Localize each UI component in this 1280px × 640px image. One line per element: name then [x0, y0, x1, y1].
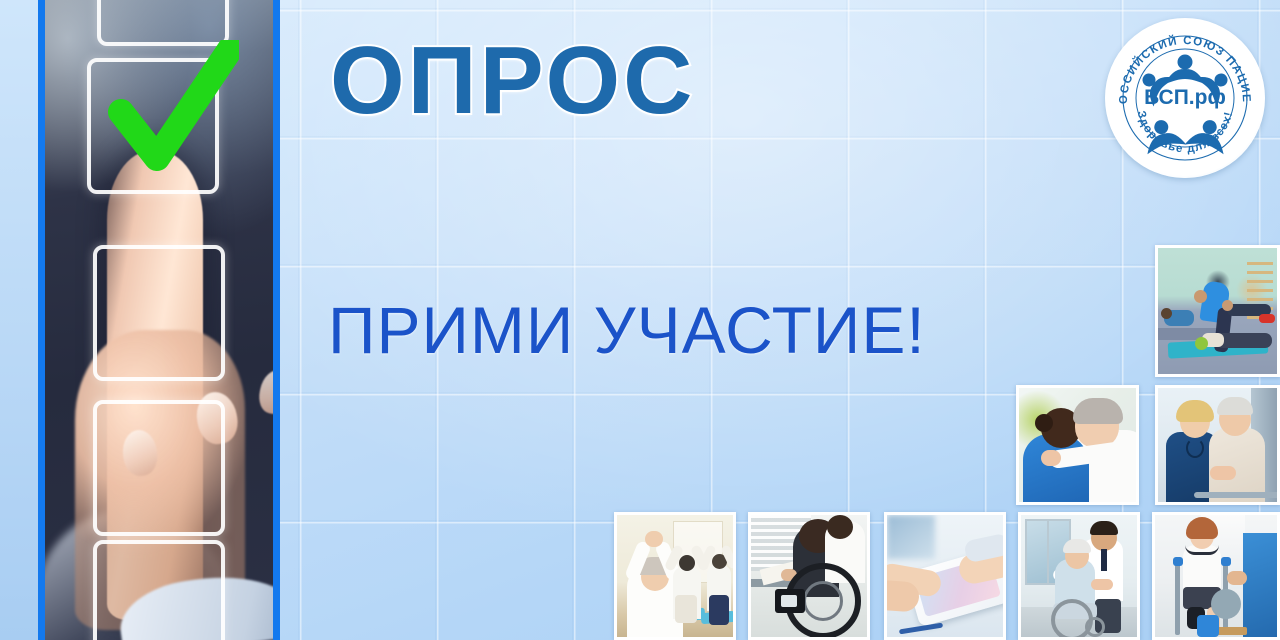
photo-hands-using-tablet [884, 512, 1006, 640]
panel-left-bleed [0, 0, 38, 640]
photo-seniors-yoga-class [614, 512, 736, 640]
checkbox-outline-checked[interactable] [87, 58, 219, 194]
panel-blue-frame [38, 0, 280, 640]
checkbox-outline[interactable] [93, 400, 225, 536]
photo-woman-on-crutches-rehab [1152, 512, 1280, 640]
vsp-logo[interactable]: ВСЕРОССИЙСКИЙ СОЮЗ ПАЦИЕНТОВ Здоровье дл… [1105, 18, 1265, 178]
checkbox-outline[interactable] [97, 0, 229, 46]
photo-children-physiotherapy [1155, 245, 1280, 377]
photo-doctor-with-wheelchair-patient [1018, 512, 1140, 640]
panel-photo-background [45, 0, 273, 640]
call-to-action-text: ПРИМИ УЧАСТИЕ! [328, 297, 926, 363]
checkbox-outline[interactable] [93, 245, 225, 381]
photo-nurse-hugging-senior-woman [1016, 385, 1139, 505]
photo-wheelchair-student-classroom [748, 512, 870, 640]
logo-center-text: ВСП.рф [1144, 86, 1226, 109]
page-title: ОПРОС [330, 33, 695, 129]
survey-banner: ОПРОС ПРИМИ УЧАСТИЕ! ВСЕРОССИЙСКИЙ СОЮЗ … [0, 0, 1280, 640]
fingernail [256, 367, 280, 416]
photo-nurse-helping-senior-man-walk [1155, 385, 1280, 505]
checkbox-photo-panel [0, 0, 288, 640]
checkbox-outline[interactable] [93, 540, 225, 640]
